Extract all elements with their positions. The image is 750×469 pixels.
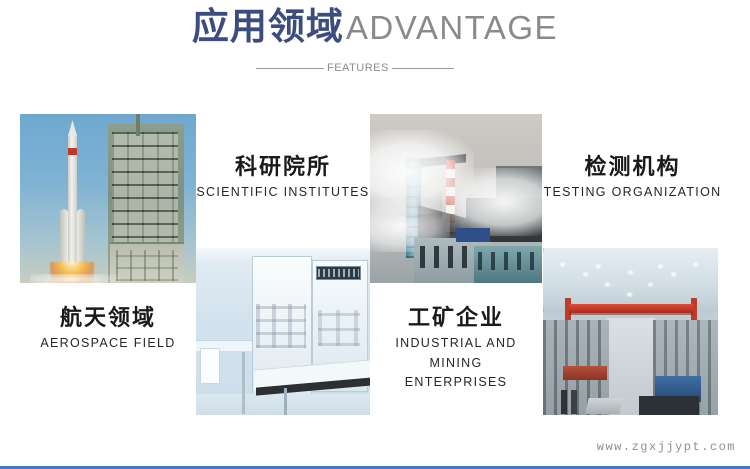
rocket-exhaust-smoke-shape: [30, 274, 120, 283]
label-testing-cn: 检测机构: [540, 154, 725, 179]
label-scientific-en: SCIENTIFIC INSTITUTES: [196, 183, 370, 201]
label-industrial-en-line1: INDUSTRIAL AND MINING: [370, 334, 542, 373]
smoke-plume-two-shape: [442, 168, 542, 236]
overhead-crane-shape: [569, 304, 693, 313]
label-aerospace-cn: 航天领域: [20, 305, 196, 330]
rocket-booster-left-shape: [60, 209, 68, 265]
label-testing-organization: 检测机构 TESTING ORGANIZATION: [540, 154, 725, 201]
tower-mast-shape: [136, 114, 140, 136]
site-watermark: www.zgxjjypt.com: [597, 440, 736, 454]
launch-pad-shape: [110, 242, 184, 283]
divider-line-right: [392, 68, 454, 69]
label-aerospace-field: 航天领域 AEROSPACE FIELD: [20, 305, 196, 352]
instrument-controls-one-shape: [256, 304, 306, 348]
rocket-launch-photo: [20, 114, 196, 283]
page-title-cn: 应用领域: [192, 6, 344, 47]
plant-blue-roof-shape: [456, 228, 490, 242]
worktable-leg-shape: [284, 388, 287, 415]
factory-dark-equipment-shape: [639, 396, 699, 415]
instrument-controls-two-shape: [318, 310, 360, 346]
application-fields-banner: 应用领域ADVANTAGE FEATURES: [0, 0, 750, 469]
bench-leg-back-shape: [242, 352, 245, 414]
metal-plate-shape: [585, 398, 622, 414]
label-industrial-en-line2: ENTERPRISES: [370, 373, 542, 392]
label-testing-en: TESTING ORGANIZATION: [540, 183, 725, 201]
label-scientific-institutes: 科研院所 SCIENTIFIC INSTITUTES: [196, 154, 370, 201]
factory-workers-shape: [561, 390, 583, 414]
label-industrial-cn: 工矿企业: [370, 305, 542, 330]
label-industrial-en: INDUSTRIAL AND MINING ENTERPRISES: [370, 334, 542, 392]
instrument-terminal-block-shape: [316, 266, 361, 280]
lab-floor-shape: [196, 394, 370, 415]
label-aerospace-en: AEROSPACE FIELD: [20, 334, 196, 352]
page-title-en: ADVANTAGE: [346, 9, 558, 46]
plant-building-two-shape: [474, 246, 542, 283]
red-machine-shape: [563, 366, 607, 380]
divider-line-left: [256, 68, 324, 69]
factory-interior-crane-photo: [543, 248, 718, 415]
laboratory-instruments-photo: [196, 248, 370, 415]
rocket-booster-right-shape: [77, 209, 85, 265]
page-title: 应用领域ADVANTAGE: [192, 8, 558, 45]
features-divider: FEATURES: [256, 61, 494, 75]
label-scientific-cn: 科研院所: [196, 154, 370, 179]
rocket-flag-marking: [68, 148, 77, 155]
label-industrial-mining: 工矿企业 INDUSTRIAL AND MINING ENTERPRISES: [370, 305, 542, 392]
plant-building-one-shape: [414, 238, 476, 283]
rocket-nose-shape: [68, 120, 77, 136]
divider-label: FEATURES: [324, 62, 392, 74]
steel-plant-smokestacks-photo: [370, 114, 542, 283]
page-header: 应用领域ADVANTAGE: [0, 8, 750, 45]
factory-ceiling-lights: [549, 258, 712, 304]
lab-paper-stack-shape: [200, 348, 220, 384]
